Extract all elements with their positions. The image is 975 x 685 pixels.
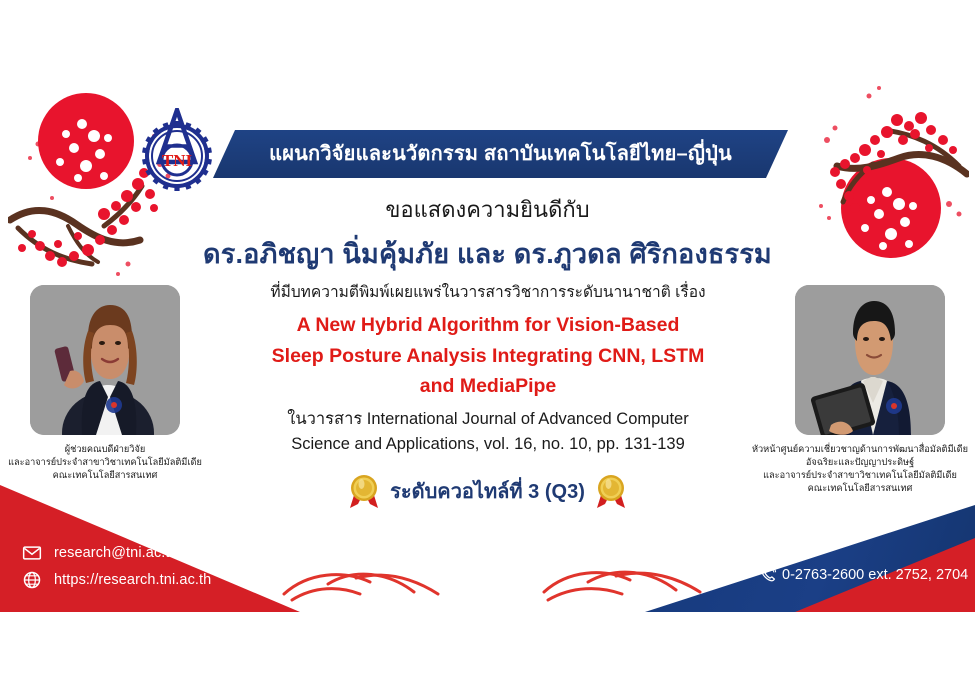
caption-right-person: หัวหน้าศูนย์ความเชี่ยวชาญด้านการพัฒนาสื่… [745, 443, 975, 495]
portrait-left-person [30, 285, 180, 435]
svg-text:TNI: TNI [162, 151, 193, 170]
caption-right-line-1: หัวหน้าศูนย์ความเชี่ยวชาญด้านการพัฒนาสื่… [745, 443, 975, 456]
department-banner: แผนกวิจัยและนวัตกรรม สถาบันเทคโนโลยีไทย–… [213, 130, 788, 178]
contact-website-row[interactable]: https://research.tni.ac.th [22, 566, 211, 593]
contact-phone: 0-2763-2600 ext. 2752, 2704 [782, 567, 968, 583]
globe-icon [22, 570, 42, 590]
caption-right-line-2: อัจฉริยะและปัญญาประดิษฐ์ [745, 456, 975, 469]
caption-left-person: ผู้ช่วยคณบดีฝ่ายวิจัย และอาจารย์ประจำสาข… [0, 443, 210, 482]
wave-decoration [248, 548, 738, 612]
quartile-label: ระดับควอไทล์ที่ 3 (Q3) [390, 475, 585, 507]
intro-line: ที่มีบทความตีพิมพ์เผยแพร่ในวารสารวิชาการ… [233, 282, 743, 304]
contact-email-row[interactable]: research@tni.ac.th [22, 539, 211, 566]
portrait-right-image [795, 285, 945, 435]
contact-email: research@tni.ac.th [54, 545, 178, 561]
medal-right-icon [594, 472, 628, 510]
journal-line-1: ในวารสาร International Journal of Advanc… [233, 407, 743, 432]
journal-info: ในวารสาร International Journal of Advanc… [233, 407, 743, 457]
paper-title: A New Hybrid Algorithm for Vision-Based … [233, 310, 743, 401]
publication-details: ที่มีบทความตีพิมพ์เผยแพร่ในวารสารวิชาการ… [233, 282, 743, 457]
paper-title-line-1: A New Hybrid Algorithm for Vision-Based [233, 310, 743, 340]
caption-right-line-4: คณะเทคโนโลยีสารสนเทศ [745, 482, 975, 495]
portrait-left-image [30, 285, 180, 435]
caption-right-line-3: และอาจารย์ประจำสาขาวิชาเทคโนโลยีมัลติมีเ… [745, 469, 975, 482]
congratulation-text: ขอแสดงความยินดีกับ [0, 192, 975, 227]
caption-left-line-2: และอาจารย์ประจำสาขาวิชาเทคโนโลยีมัลติมีเ… [0, 456, 210, 469]
envelope-icon [22, 543, 42, 563]
phone-icon [759, 565, 778, 584]
journal-line-2: Science and Applications, vol. 16, no. 1… [233, 432, 743, 457]
caption-left-line-1: ผู้ช่วยคณบดีฝ่ายวิจัย [0, 443, 210, 456]
banner-text: แผนกวิจัยและนวัตกรรม สถาบันเทคโนโลยีไทย–… [269, 137, 732, 171]
congratulations-poster: TNI แผนกวิจัยและนวัตกรรม สถาบันเทคโนโลยี… [0, 0, 975, 685]
portrait-right-person [795, 285, 945, 435]
paper-title-line-3: and MediaPipe [233, 371, 743, 401]
tni-logo-icon: TNI [136, 108, 218, 192]
paper-title-line-2: Sleep Posture Analysis Integrating CNN, … [233, 341, 743, 371]
poster-canvas: TNI แผนกวิจัยและนวัตกรรม สถาบันเทคโนโลยี… [0, 0, 975, 612]
caption-left-line-3: คณะเทคโนโลยีสารสนเทศ [0, 469, 210, 482]
contact-info: research@tni.ac.th https://research.tni.… [22, 539, 211, 593]
honoree-names: ดร.อภิชญา นิ่มคุ้มภัย และ ดร.ภูวดล ศิริก… [0, 232, 975, 275]
contact-website: https://research.tni.ac.th [54, 572, 211, 588]
medal-left-icon [347, 472, 381, 510]
contact-phone-row[interactable]: 0-2763-2600 ext. 2752, 2704 [759, 565, 968, 584]
